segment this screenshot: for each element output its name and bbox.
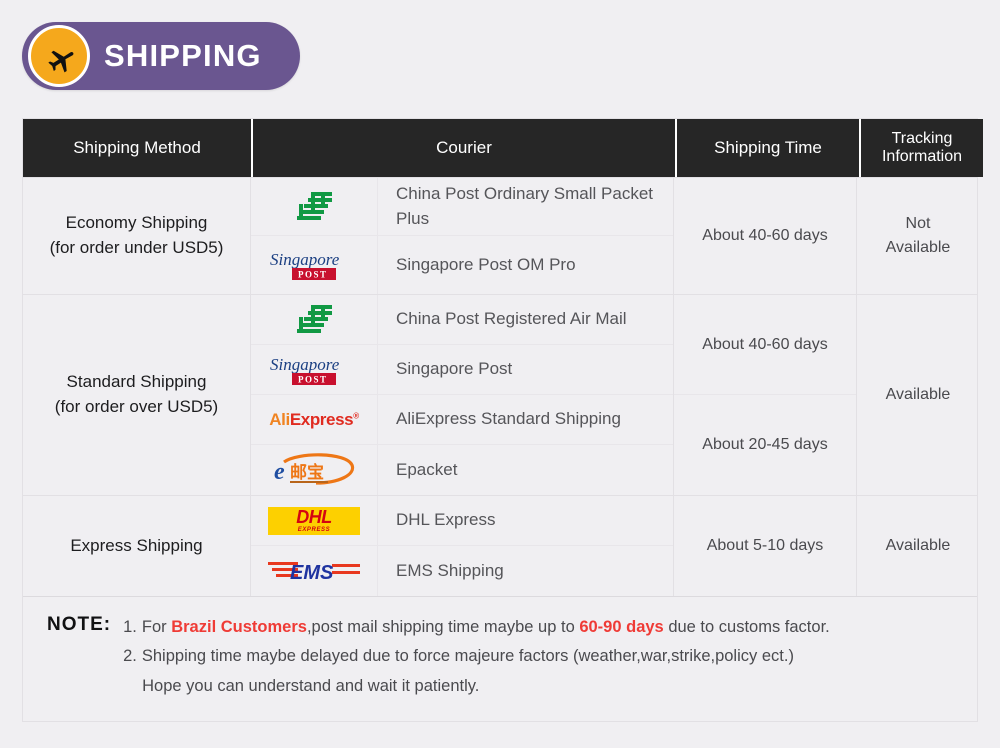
svg-text:POST: POST bbox=[298, 374, 328, 384]
shipping-time-cell: About 20-45 days bbox=[674, 395, 856, 495]
singapore-post-logo: Singapore POST bbox=[251, 236, 378, 294]
note-1-highlight-brazil: Brazil Customers bbox=[171, 618, 307, 636]
note-item-1: 1.For Brazil Customers,post mail shippin… bbox=[123, 613, 830, 642]
note-item-2: 2.Shipping time maybe delayed due to for… bbox=[123, 642, 830, 671]
note-label: NOTE: bbox=[47, 613, 111, 636]
time-column-economy: About 40-60 days bbox=[674, 178, 857, 294]
tracking-line1: Available bbox=[886, 534, 951, 558]
table-header-row: Shipping Method Courier Shipping Time Tr… bbox=[23, 119, 977, 177]
method-line1: Express Shipping bbox=[70, 534, 202, 559]
courier-row: DHL EXPRESS DHL Express bbox=[251, 496, 673, 546]
courier-row: China Post Registered Air Mail bbox=[251, 295, 673, 345]
tracking-cell-economy: Not Available bbox=[857, 178, 979, 294]
badge-title: SHIPPING bbox=[104, 38, 262, 74]
china-post-logo bbox=[251, 178, 378, 235]
dhl-wordmark: DHL EXPRESS bbox=[268, 507, 360, 535]
note-1-part3: due to customs factor. bbox=[664, 618, 830, 636]
tracking-line1: Not bbox=[906, 212, 931, 236]
tracking-header-line2: Information bbox=[882, 148, 962, 166]
courier-name: Epacket bbox=[378, 458, 457, 483]
tracking-line2: Available bbox=[886, 236, 951, 260]
note-section: NOTE: 1.For Brazil Customers,post mail s… bbox=[23, 596, 977, 721]
courier-row: China Post Ordinary Small Packet Plus bbox=[251, 178, 673, 236]
note-1-part2: ,post mail shipping time maybe up to bbox=[307, 618, 579, 636]
time-column-standard: About 40-60 days About 20-45 days bbox=[674, 295, 857, 495]
courier-name: Singapore Post OM Pro bbox=[378, 253, 576, 278]
svg-text:邮宝: 邮宝 bbox=[290, 462, 324, 483]
svg-text:Singapore: Singapore bbox=[270, 355, 340, 374]
note-1-part1: For bbox=[142, 618, 171, 636]
shipping-time-cell: About 40-60 days bbox=[674, 295, 856, 395]
svg-text:e: e bbox=[274, 459, 285, 485]
courier-row: EMS EMS Shipping bbox=[251, 546, 673, 596]
note-2-number: 2. bbox=[123, 647, 142, 665]
airplane-icon bbox=[28, 25, 90, 87]
courier-row: AliExpress® AliExpress Standard Shipping bbox=[251, 395, 673, 445]
courier-name: DHL Express bbox=[378, 508, 496, 533]
courier-row: Singapore POST Singapore Post OM Pro bbox=[251, 236, 673, 294]
aliexpress-logo: AliExpress® bbox=[251, 395, 378, 444]
tracking-cell-express: Available bbox=[857, 496, 979, 596]
note-1-highlight-days: 60-90 days bbox=[579, 618, 663, 636]
badge-pill: SHIPPING bbox=[22, 22, 300, 90]
shipping-time-cell: About 40-60 days bbox=[674, 178, 856, 294]
shipping-time-cell: About 5-10 days bbox=[674, 496, 856, 596]
tracking-cell-standard: Available bbox=[857, 295, 979, 495]
method-cell-standard: Standard Shipping (for order over USD5) bbox=[23, 295, 251, 495]
column-header-shipping-time: Shipping Time bbox=[677, 119, 859, 177]
table-section-express: Express Shipping DHL EXPRESS DHL Express bbox=[23, 495, 977, 596]
china-post-logo bbox=[251, 295, 378, 344]
courier-row: Singapore POST Singapore Post bbox=[251, 345, 673, 395]
shipping-header-badge: SHIPPING bbox=[22, 22, 300, 90]
singapore-post-logo: Singapore POST bbox=[251, 345, 378, 394]
note-2-line1: Shipping time maybe delayed due to force… bbox=[142, 647, 794, 665]
method-line1: Economy Shipping bbox=[66, 211, 208, 236]
aliexpress-wordmark: AliExpress® bbox=[269, 410, 358, 430]
courier-name: EMS Shipping bbox=[378, 559, 504, 584]
registered-icon: ® bbox=[353, 411, 359, 420]
svg-text:EMS: EMS bbox=[290, 562, 334, 584]
courier-column-economy: China Post Ordinary Small Packet Plus Si… bbox=[251, 178, 674, 294]
courier-column-standard: China Post Registered Air Mail Singapore… bbox=[251, 295, 674, 495]
tracking-header-line1: Tracking bbox=[882, 130, 962, 148]
method-line2: (for order under USD5) bbox=[50, 236, 224, 261]
table-section-economy: Economy Shipping (for order under USD5) bbox=[23, 177, 977, 294]
courier-row: e 邮宝 Epacket bbox=[251, 445, 673, 495]
courier-column-express: DHL EXPRESS DHL Express bbox=[251, 496, 674, 596]
courier-name: Singapore Post bbox=[378, 357, 512, 382]
epacket-logo: e 邮宝 bbox=[251, 445, 378, 495]
column-header-shipping-method: Shipping Method bbox=[23, 119, 251, 177]
method-line1: Standard Shipping bbox=[67, 370, 207, 395]
aliexpress-ali: Ali bbox=[269, 410, 290, 429]
method-cell-economy: Economy Shipping (for order under USD5) bbox=[23, 178, 251, 294]
dhl-subtext: EXPRESS bbox=[298, 527, 331, 533]
ems-logo: EMS bbox=[251, 546, 378, 596]
time-column-express: About 5-10 days bbox=[674, 496, 857, 596]
shipping-table: Shipping Method Courier Shipping Time Tr… bbox=[22, 118, 978, 722]
column-header-tracking-information: Tracking Information bbox=[861, 119, 983, 177]
table-section-standard: Standard Shipping (for order over USD5) bbox=[23, 294, 977, 495]
courier-name: China Post Ordinary Small Packet Plus bbox=[378, 182, 673, 231]
dhl-logo: DHL EXPRESS bbox=[251, 496, 378, 545]
svg-text:Singapore: Singapore bbox=[270, 250, 340, 269]
note-items: 1.For Brazil Customers,post mail shippin… bbox=[111, 613, 830, 701]
method-cell-express: Express Shipping bbox=[23, 496, 251, 596]
note-1-number: 1. bbox=[123, 618, 142, 636]
courier-name: China Post Registered Air Mail bbox=[378, 307, 627, 332]
note-item-2-continued: Hope you can understand and wait it pati… bbox=[123, 672, 830, 701]
note-2-line2: Hope you can understand and wait it pati… bbox=[142, 677, 479, 695]
method-line2: (for order over USD5) bbox=[55, 395, 218, 420]
dhl-text: DHL bbox=[296, 508, 332, 526]
column-header-courier: Courier bbox=[253, 119, 675, 177]
aliexpress-express: Express bbox=[290, 410, 353, 429]
svg-text:POST: POST bbox=[298, 270, 328, 280]
courier-name: AliExpress Standard Shipping bbox=[378, 407, 621, 432]
tracking-line1: Available bbox=[886, 383, 951, 407]
